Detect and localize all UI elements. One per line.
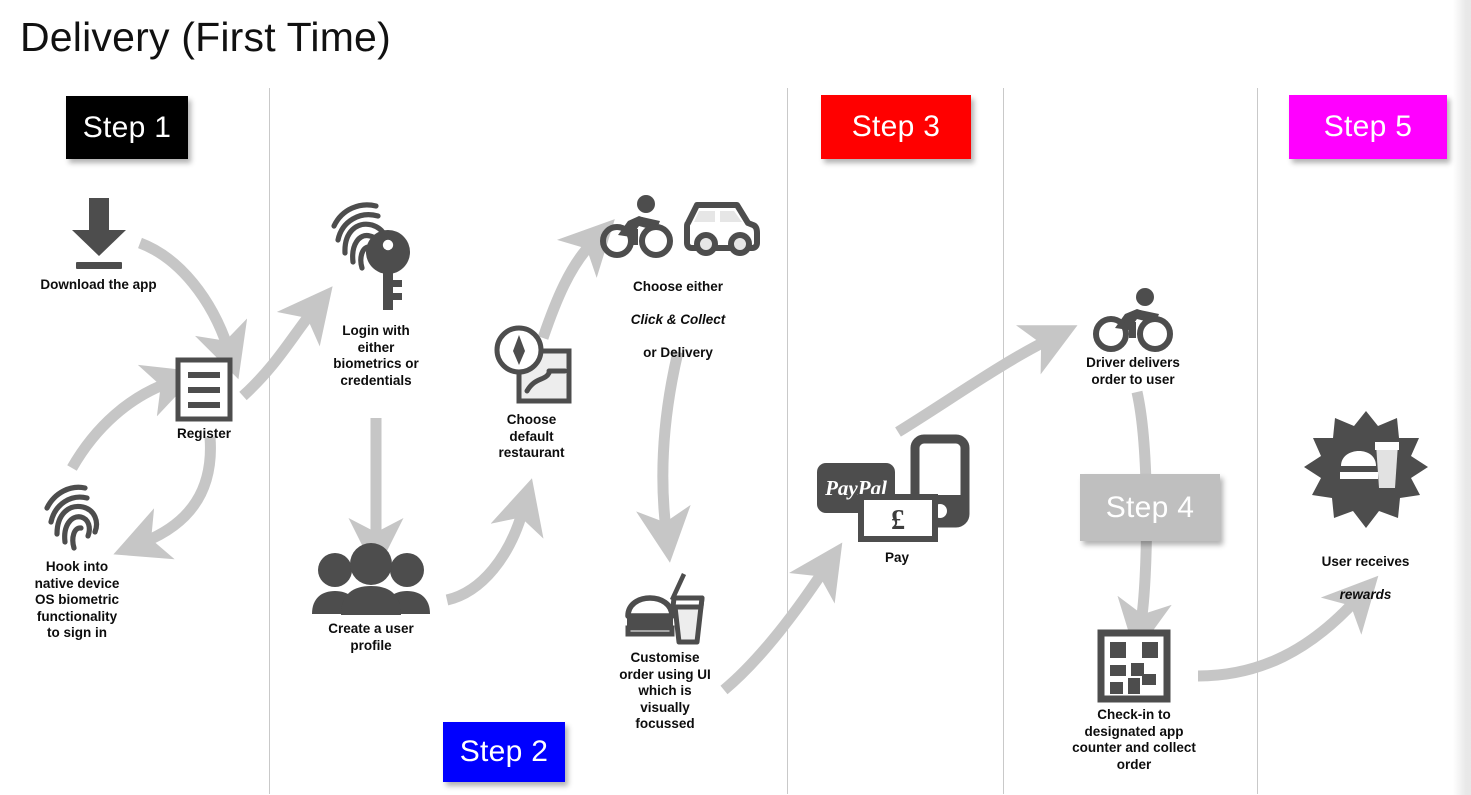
step-badge-5[interactable]: Step 5 [1289, 95, 1447, 159]
step-badge-1[interactable]: Step 1 [66, 96, 188, 159]
cyclist-icon [1087, 288, 1179, 350]
node-fulfilment[interactable]: Choose either Click & Collect or Deliver… [598, 195, 758, 361]
step-badge-5-label: Step 5 [1324, 110, 1413, 144]
node-restaurant[interactable]: Choose default restaurant [480, 325, 583, 462]
node-rewards-line1: User receives [1322, 554, 1410, 569]
step-badge-4-label: Step 4 [1106, 491, 1195, 525]
lane-divider-3 [1003, 88, 1004, 794]
node-fulfilment-line2: Click & Collect [631, 312, 726, 327]
step-badge-2-label: Step 2 [460, 735, 549, 769]
step-badge-3-label: Step 3 [852, 110, 941, 144]
document-lines-icon [175, 358, 233, 421]
node-profile[interactable]: Create a user profile [310, 548, 432, 654]
currency-symbol: £ [891, 505, 905, 536]
node-profile-caption: Create a user profile [328, 621, 414, 654]
node-customise-caption: Customise order using UI which is visual… [619, 650, 711, 733]
node-login-caption: Login with either biometrics or credenti… [333, 323, 419, 389]
download-arrow-icon [66, 196, 132, 272]
node-driver-caption: Driver delivers order to user [1086, 355, 1180, 388]
page-title: Delivery (First Time) [20, 12, 391, 62]
node-pay[interactable]: PayPal £ Pay [813, 435, 981, 567]
diagram-canvas: Delivery (First Time) [0, 0, 1471, 795]
step-badge-1-label: Step 1 [83, 111, 172, 145]
qr-code-icon [1097, 630, 1171, 702]
step-badge-3[interactable]: Step 3 [821, 95, 971, 159]
node-biometric-caption: Hook into native device OS biometric fun… [35, 559, 120, 642]
node-fulfilment-caption: Choose either Click & Collect or Deliver… [631, 262, 726, 361]
node-register[interactable]: Register [158, 358, 250, 443]
node-login[interactable]: Login with either biometrics or credenti… [316, 200, 436, 389]
node-checkin[interactable]: Check-in to designated app counter and c… [1058, 630, 1210, 773]
node-rewards-caption: User receives rewards [1322, 537, 1410, 603]
lane-divider-4 [1257, 88, 1258, 794]
step-badge-2[interactable]: Step 2 [443, 722, 565, 782]
fingerprint-icon [41, 482, 113, 554]
map-compass-icon [491, 325, 573, 407]
user-group-icon [310, 548, 432, 616]
lane-divider-2 [787, 88, 788, 794]
node-driver[interactable]: Driver delivers order to user [1069, 288, 1197, 388]
node-rewards-line2: rewards [1340, 587, 1392, 602]
node-download[interactable]: Download the app [31, 196, 166, 294]
node-fulfilment-line3: or Delivery [643, 345, 713, 360]
node-biometric[interactable]: Hook into native device OS biometric fun… [18, 482, 136, 642]
node-pay-caption: Pay [885, 550, 909, 567]
bicycle-car-icon [598, 195, 758, 257]
reward-badge-icon [1303, 410, 1429, 532]
node-checkin-caption: Check-in to designated app counter and c… [1072, 707, 1196, 773]
lane-divider-1 [269, 88, 270, 794]
page-edge-shading [1453, 0, 1471, 795]
node-register-caption: Register [177, 426, 231, 443]
node-customise[interactable]: Customise order using UI which is visual… [600, 570, 730, 733]
node-fulfilment-line1: Choose either [633, 279, 723, 294]
burger-drink-icon [622, 570, 708, 645]
node-download-caption: Download the app [40, 277, 156, 294]
paypal-phone-note-icon: PayPal £ [813, 435, 981, 545]
node-rewards[interactable]: User receives rewards [1298, 410, 1433, 603]
step-badge-4[interactable]: Step 4 [1080, 474, 1220, 541]
fingerprint-key-icon [330, 200, 422, 318]
node-restaurant-caption: Choose default restaurant [498, 412, 564, 462]
